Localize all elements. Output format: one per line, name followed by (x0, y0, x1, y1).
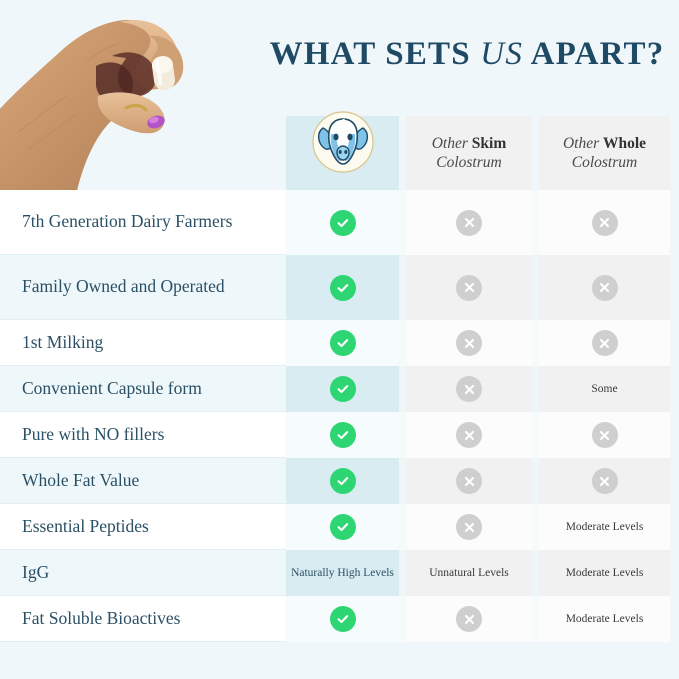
column-gap (399, 596, 406, 642)
row-feature-label: Convenient Capsule form (0, 366, 286, 412)
feature-text: Convenient Capsule form (22, 378, 202, 399)
column-gap (399, 320, 406, 366)
cell-whole (539, 190, 670, 255)
table-row: IgGNaturally High LevelsUnnatural Levels… (0, 550, 679, 596)
cell-whole: Moderate Levels (539, 596, 670, 642)
table-row: Family Owned and Operated (0, 255, 679, 320)
table-row: Convenient Capsule formSome (0, 366, 679, 412)
row-feature-label: IgG (0, 550, 286, 596)
page-title-part2: APART? (523, 36, 664, 72)
column-gap (532, 190, 539, 255)
row-feature-label: Essential Peptides (0, 504, 286, 550)
cell-value-whole: Moderate Levels (562, 520, 648, 534)
cell-us: Naturally High Levels (286, 550, 399, 596)
cell-skim (406, 412, 532, 458)
column-gap (532, 116, 539, 190)
cell-us (286, 412, 399, 458)
column-gap (532, 550, 539, 596)
header-whole-other: Other (563, 135, 603, 152)
cell-value-whole: Some (587, 382, 621, 396)
x-circle-icon (456, 606, 482, 632)
feature-text: Pure with NO fillers (22, 424, 164, 445)
column-gap (532, 255, 539, 320)
header-whole-bold: Whole (603, 135, 646, 152)
row-feature-label: Whole Fat Value (0, 458, 286, 504)
header-skim-line2: Colostrum (436, 154, 501, 171)
header-skim-other: Other (432, 135, 472, 152)
cell-whole (539, 255, 670, 320)
cell-value-us: Naturally High Levels (287, 566, 398, 580)
header-skim-bold: Skim (472, 135, 506, 152)
feature-text: Whole Fat Value (22, 470, 139, 491)
header-whole-column: Other Whole Colostrum (539, 116, 670, 190)
cell-whole: Moderate Levels (539, 504, 670, 550)
x-circle-icon (456, 330, 482, 356)
row-feature-label: 1st Milking (0, 320, 286, 366)
cell-us (286, 255, 399, 320)
x-circle-icon (456, 422, 482, 448)
cell-skim (406, 190, 532, 255)
check-circle-icon (330, 514, 356, 540)
check-circle-icon (330, 210, 356, 236)
cell-value-whole: Moderate Levels (562, 566, 648, 580)
x-circle-icon (456, 376, 482, 402)
x-circle-icon (592, 468, 618, 494)
cell-whole: Some (539, 366, 670, 412)
feature-text: Essential Peptides (22, 516, 149, 537)
cell-whole (539, 320, 670, 366)
feature-text: Fat Soluble Bioactives (22, 608, 180, 629)
check-circle-icon (330, 275, 356, 301)
column-gap (399, 412, 406, 458)
cell-us (286, 366, 399, 412)
x-circle-icon (456, 275, 482, 301)
check-circle-icon (330, 606, 356, 632)
header-skim-label: Other Skim Colostrum (426, 134, 513, 173)
table-row: 1st Milking (0, 320, 679, 366)
check-circle-icon (330, 330, 356, 356)
feature-text: 7th Generation Dairy Farmers (22, 211, 232, 232)
feature-text: IgG (22, 562, 49, 583)
cell-us (286, 596, 399, 642)
column-gap (399, 366, 406, 412)
table-row: Essential PeptidesModerate Levels (0, 504, 679, 550)
header-skim-column: Other Skim Colostrum (406, 116, 532, 190)
cell-us (286, 190, 399, 255)
column-gap (399, 255, 406, 320)
header-whole-label: Other Whole Colostrum (557, 134, 652, 173)
x-circle-icon (456, 210, 482, 236)
cell-whole (539, 458, 670, 504)
column-gap (532, 366, 539, 412)
table-row: Fat Soluble BioactivesModerate Levels (0, 596, 679, 642)
comparison-table: Other Skim Colostrum Other Whole Colostr… (0, 116, 679, 642)
check-circle-icon (330, 468, 356, 494)
check-circle-icon (330, 422, 356, 448)
column-gap (399, 504, 406, 550)
cell-skim (406, 255, 532, 320)
cell-whole: Moderate Levels (539, 550, 670, 596)
row-feature-label: 7th Generation Dairy Farmers (0, 190, 286, 255)
column-gap (532, 412, 539, 458)
cell-skim (406, 596, 532, 642)
x-circle-icon (456, 468, 482, 494)
page-title-part1: WHAT SETS (270, 36, 481, 72)
column-gap (399, 458, 406, 504)
column-gap (532, 504, 539, 550)
x-circle-icon (456, 514, 482, 540)
feature-text: Family Owned and Operated (22, 276, 225, 297)
cell-us (286, 458, 399, 504)
row-feature-label: Family Owned and Operated (0, 255, 286, 320)
cow-head-logo (311, 110, 375, 174)
cell-skim (406, 458, 532, 504)
cell-skim (406, 320, 532, 366)
page-title: WHAT SETS US APART? (262, 36, 672, 74)
cell-value-skim: Unnatural Levels (425, 566, 513, 580)
cell-skim (406, 504, 532, 550)
cell-value-whole: Moderate Levels (562, 612, 648, 626)
x-circle-icon (592, 210, 618, 236)
page-title-italic: US (480, 36, 523, 72)
x-circle-icon (592, 275, 618, 301)
check-circle-icon (330, 376, 356, 402)
cell-us (286, 504, 399, 550)
table-body: 7th Generation Dairy FarmersFamily Owned… (0, 190, 679, 642)
row-feature-label: Pure with NO fillers (0, 412, 286, 458)
table-row: Whole Fat Value (0, 458, 679, 504)
column-gap (399, 190, 406, 255)
x-circle-icon (592, 422, 618, 448)
cell-skim (406, 366, 532, 412)
row-feature-label: Fat Soluble Bioactives (0, 596, 286, 642)
cell-us (286, 320, 399, 366)
column-gap (399, 550, 406, 596)
column-gap (399, 116, 406, 190)
feature-text: 1st Milking (22, 332, 103, 353)
column-gap (532, 458, 539, 504)
column-gap (532, 596, 539, 642)
column-gap (532, 320, 539, 366)
table-row: 7th Generation Dairy Farmers (0, 190, 679, 255)
page-title-container: WHAT SETS US APART? (262, 36, 672, 74)
table-row: Pure with NO fillers (0, 412, 679, 458)
header-feature-cell (0, 116, 286, 190)
cell-whole (539, 412, 670, 458)
cell-skim: Unnatural Levels (406, 550, 532, 596)
x-circle-icon (592, 330, 618, 356)
header-whole-line2: Colostrum (572, 154, 637, 171)
